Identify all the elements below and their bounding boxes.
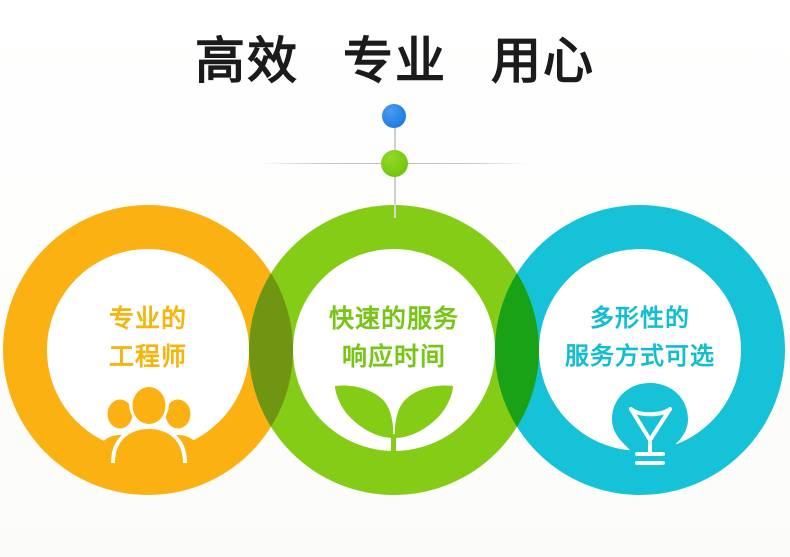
card-left-line-1: 专业的 <box>18 300 278 338</box>
lightbulb-icon <box>604 382 696 468</box>
card-right-line-1: 多形性的 <box>510 300 770 338</box>
card-text-middle: 快速的服务 响应时间 <box>264 300 524 376</box>
headline-word-3: 用心 <box>491 30 595 92</box>
blue-dot-icon <box>382 104 406 128</box>
card-left-line-2: 工程师 <box>18 338 278 376</box>
connector-vertical-line-bottom <box>394 170 396 218</box>
green-dot-icon <box>381 150 408 177</box>
people-group-icon <box>93 383 205 463</box>
card-text-right: 多形性的 服务方式可选 <box>510 300 770 376</box>
card-right-line-2: 服务方式可选 <box>510 338 770 376</box>
headline-word-2: 专业 <box>343 30 447 92</box>
page-title: 高效专业用心 <box>0 30 790 92</box>
sprout-icon <box>333 378 455 464</box>
card-text-left: 专业的 工程师 <box>18 300 278 376</box>
infographic-canvas: 高效专业用心 专业的 工程师 快速的服务 响应时间 <box>0 0 790 557</box>
headline-word-1: 高效 <box>195 30 299 92</box>
card-middle-line-1: 快速的服务 <box>264 300 524 338</box>
card-middle-line-2: 响应时间 <box>264 338 524 376</box>
